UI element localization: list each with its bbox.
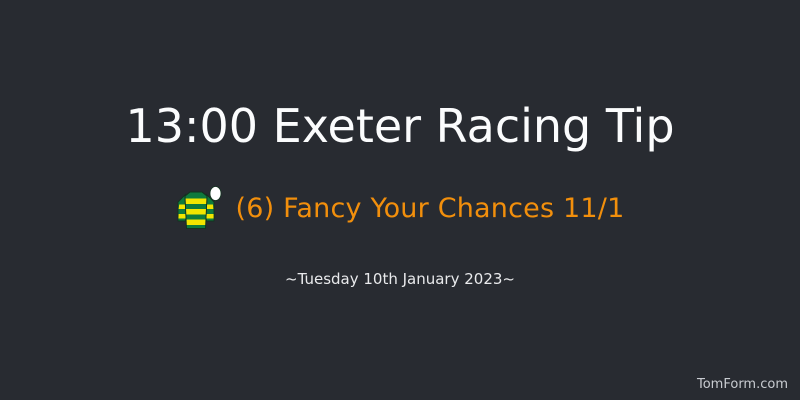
selection-row: (6) Fancy Your Chances 11/1 (0, 184, 800, 234)
selection-label: (6) Fancy Your Chances 11/1 (236, 192, 625, 226)
jockey-silks-icon (176, 185, 222, 233)
race-date: ~Tuesday 10th January 2023~ (0, 268, 800, 290)
page-title: 13:00 Exeter Racing Tip (0, 98, 800, 154)
site-watermark: TomForm.com (697, 376, 788, 394)
racing-tip-card: 13:00 Exeter Racing Tip (0, 0, 800, 400)
